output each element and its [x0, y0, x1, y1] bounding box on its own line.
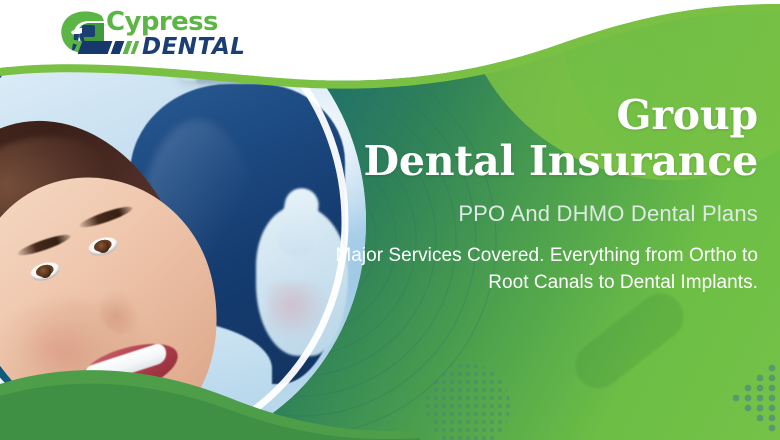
- dental-lamp-arm: [196, 66, 252, 84]
- gloved-hand-shadow: [268, 282, 328, 340]
- brand-logo[interactable]: Cypress DENTAL: [58, 8, 238, 58]
- dental-insurance-hero-banner: Cypress DENTAL Group Dental Insurance PP…: [0, 0, 780, 440]
- brand-name-secondary: DENTAL: [142, 35, 245, 59]
- page-title: Group Dental Insurance: [328, 92, 758, 184]
- logo-bar-navy-1: [78, 41, 113, 54]
- hero-body-text: Major Services Covered. Everything from …: [328, 242, 758, 296]
- hero-subheading: PPO And DHMO Dental Plans: [328, 200, 758, 228]
- logo-bar-green-2: [131, 41, 140, 54]
- headline-line-2: Dental Insurance: [328, 138, 758, 184]
- brand-wordmark: Cypress DENTAL: [106, 8, 245, 59]
- patient-cheek: [22, 320, 92, 376]
- halftone-dot-circle-decoration: [425, 363, 511, 440]
- hero-copy-block: Group Dental Insurance PPO And DHMO Dent…: [328, 92, 758, 296]
- corner-dot-triangle-decoration: [694, 362, 780, 440]
- brand-dental-row: DENTAL: [80, 35, 245, 59]
- brand-name-primary: Cypress: [106, 8, 245, 36]
- headline-line-1: Group: [617, 91, 758, 139]
